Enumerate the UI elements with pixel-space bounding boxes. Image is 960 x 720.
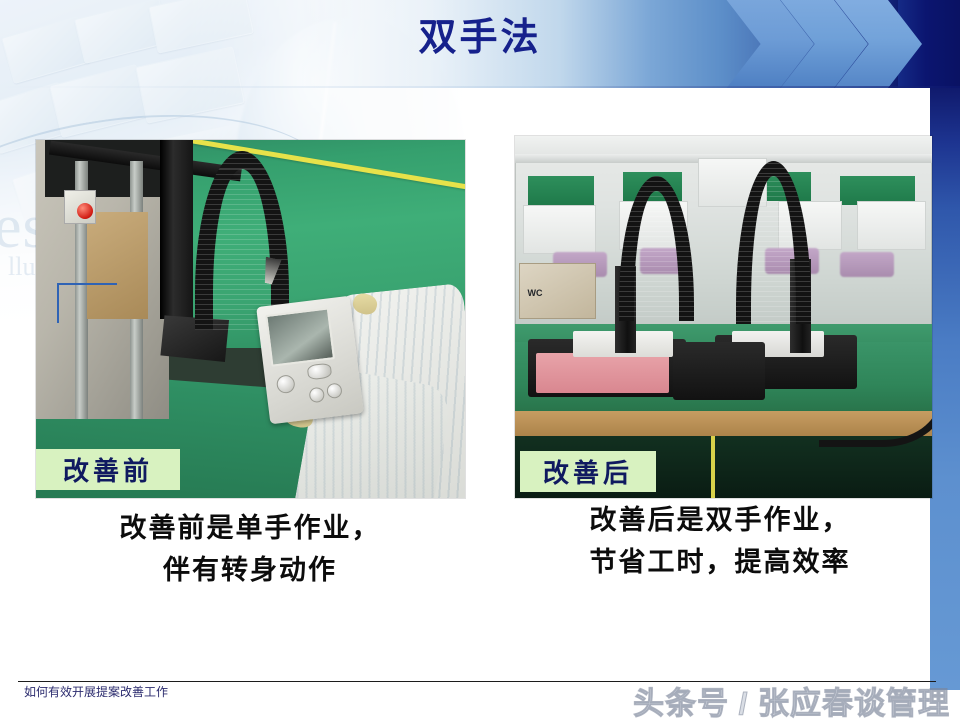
after-photo-tray-stack xyxy=(840,252,894,277)
background-ghost-text-secondary: llu xyxy=(8,252,35,282)
after-caption-line1: 改善后是双手作业， xyxy=(590,505,851,535)
before-photo-device-knob xyxy=(307,362,333,380)
before-badge: 改善前 xyxy=(36,449,180,490)
after-photo-white-panel xyxy=(857,201,926,250)
before-photo-blue-tape xyxy=(57,283,59,322)
after-photo-white-panel xyxy=(523,205,596,254)
before-caption: 改善前是单手作业， 伴有转身动作 xyxy=(30,508,470,592)
before-photo-blue-tape xyxy=(57,283,117,285)
before-photo-handheld-device xyxy=(257,296,365,425)
watermark-text: 头条号 / 张应春谈管理 xyxy=(633,678,950,720)
after-photo-green-panel xyxy=(528,176,595,205)
right-accent-bar xyxy=(930,88,960,690)
page-title: 双手法 xyxy=(0,6,960,61)
before-photo-device-screen xyxy=(265,308,335,367)
before-photo-black-post xyxy=(160,140,192,319)
after-photo-floor-marking xyxy=(711,436,715,498)
before-photo-carton xyxy=(87,212,147,319)
before-photo-device-knob xyxy=(276,374,296,394)
before-photo-device-knob xyxy=(308,387,325,404)
after-photo-center-module xyxy=(673,342,765,400)
after-photo: WC 改善后 xyxy=(515,136,932,498)
slide-canvas: es llu 双手法 xyxy=(0,0,960,720)
before-photo-device-knob xyxy=(327,383,344,400)
before-caption-line2: 伴有转身动作 xyxy=(30,550,470,592)
before-photo-red-button xyxy=(77,203,93,219)
after-photo-pink-mat xyxy=(536,353,669,393)
after-badge: 改善后 xyxy=(520,451,656,492)
before-photo: 改善前 xyxy=(36,140,465,498)
after-photo-power-cable xyxy=(819,389,932,447)
header-underline xyxy=(0,86,960,88)
footer-note: 如何有效开展提案改善工作 xyxy=(24,683,168,700)
after-caption-line2: 节省工时，提高效率 xyxy=(500,542,940,584)
before-caption-line1: 改善前是单手作业， xyxy=(120,513,381,543)
after-photo-carton-label: WC xyxy=(528,288,543,298)
after-caption: 改善后是双手作业， 节省工时，提高效率 xyxy=(500,500,940,584)
